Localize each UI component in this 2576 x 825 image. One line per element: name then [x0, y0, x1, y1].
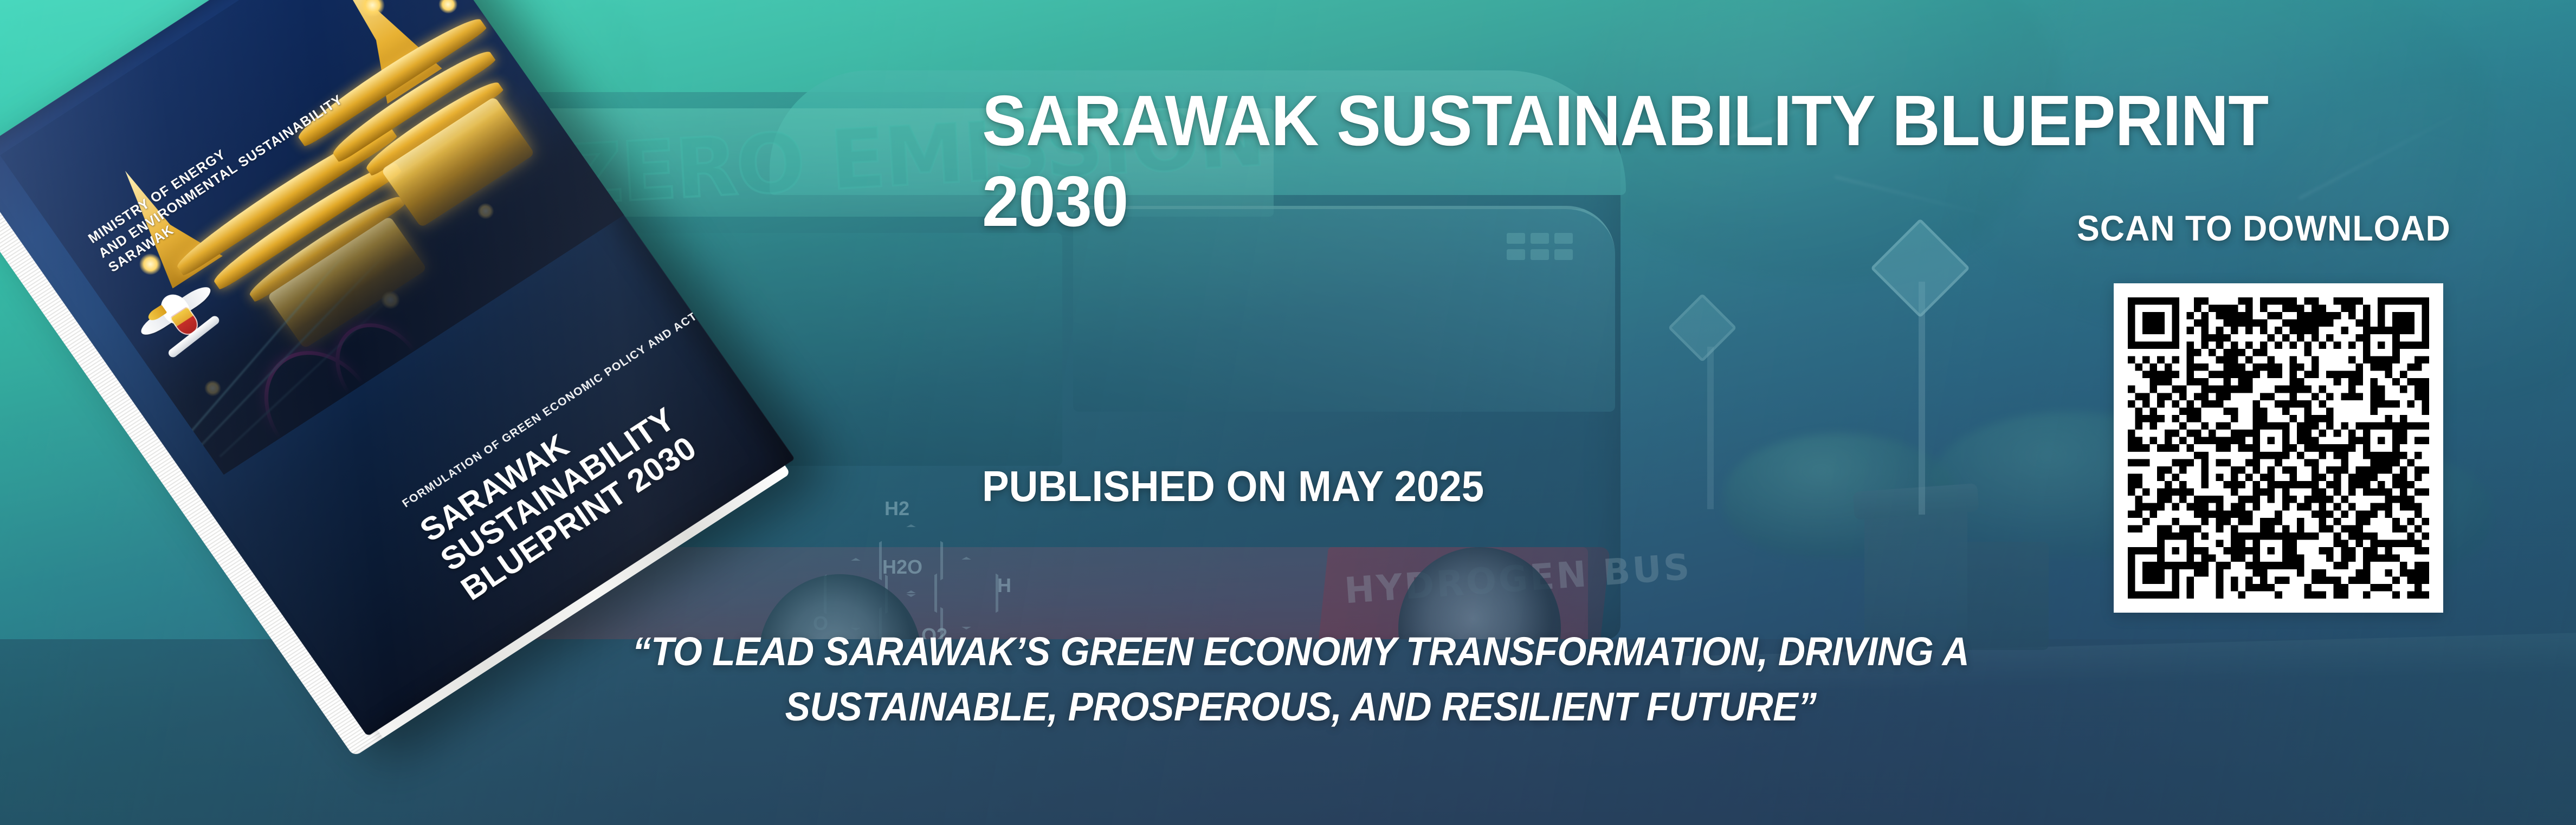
published-date-label: PUBLISHED ON MAY 2025: [982, 462, 1484, 511]
book-cover-title-block: FORMULATION OF GREEN ECONOMIC POLICY AND…: [400, 323, 748, 607]
sustainability-blueprint-banner: ZERO EMISSION HYDROGEN BUS H2O O O2 H H2: [0, 0, 2576, 825]
qr-code-panel[interactable]: [2114, 283, 2443, 613]
qr-code-image[interactable]: [2128, 297, 2429, 599]
vision-tagline: “TO LEAD SARAWAK’S GREEN ECONOMY TRANSFO…: [537, 624, 2065, 735]
page-title: SARAWAK SUSTAINABILITY BLUEPRINT 2030: [982, 80, 2268, 242]
blueprint-book-mockup: MINISTRY OF ENERGY AND ENVIRONMENTAL SUS…: [87, 65, 813, 650]
scan-to-download-label: SCAN TO DOWNLOAD: [2077, 207, 2451, 249]
